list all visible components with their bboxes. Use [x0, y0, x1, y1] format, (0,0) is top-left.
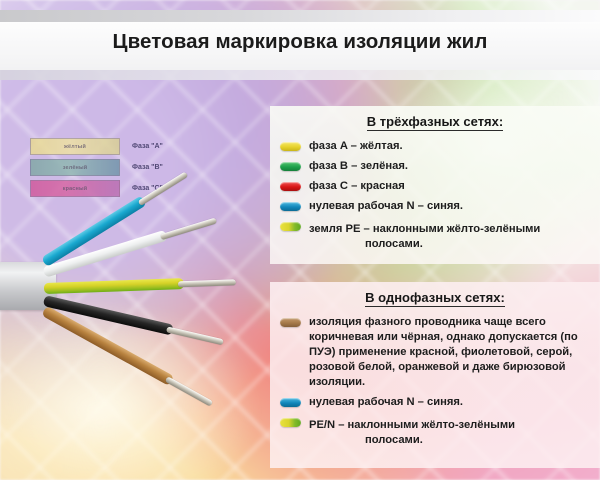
single-phase-item-pen: PE/N – наклонными жёлто-зелёными: [309, 419, 515, 431]
header-band-bottom: [0, 70, 600, 80]
list-item: фаза A – жёлтая.: [278, 139, 592, 154]
three-phase-item-a: фаза A – жёлтая.: [309, 139, 403, 154]
single-phase-item-neutral: нулевая рабочая N – синяя.: [309, 395, 463, 410]
black-wire-core: [166, 326, 224, 345]
list-item: изоляция фазного проводника чаще всего к…: [278, 315, 592, 390]
three-phase-heading: В трёхфазных сетях:: [367, 114, 503, 131]
list-item: нулевая рабочая N – синяя.: [278, 395, 592, 410]
list-item: фаза B – зелёная.: [278, 159, 592, 174]
single-phase-item-live: изоляция фазного проводника чаще всего к…: [309, 315, 592, 390]
legend-label-phase-b: Фаза "B": [132, 164, 163, 171]
legend-row: зелёный Фаза "B": [30, 159, 200, 176]
legend-swatch-green: зелёный: [30, 159, 120, 176]
three-phase-item-earth-continuation: полосами.: [309, 237, 540, 252]
bullet-yellow-icon: [280, 142, 301, 151]
white-wire-core: [160, 217, 217, 240]
single-phase-item-pen-continuation: полосами.: [309, 433, 515, 448]
legend-label-phase-a: Фаза "A": [132, 143, 163, 150]
legend-swatch-red: красный: [30, 180, 120, 197]
legend-row: жёлтый Фаза "A": [30, 138, 200, 155]
three-phase-item-earth: земля PE – наклонными жёлто-зелёными: [309, 223, 540, 235]
three-phase-item-neutral: нулевая рабочая N – синяя.: [309, 199, 463, 214]
yellow-green-wire-jacket: [44, 278, 184, 294]
header-band-top: [0, 10, 600, 22]
bullet-yellow-green-icon: [280, 418, 301, 427]
single-phase-heading: В однофазных сетях:: [365, 290, 505, 307]
three-phase-item-b: фаза B – зелёная.: [309, 159, 408, 174]
three-phase-item-c: фаза C – красная: [309, 179, 405, 194]
bullet-green-icon: [280, 162, 301, 171]
cable-illustration: [0, 205, 280, 405]
page-title: Цветовая маркировка изоляции жил: [0, 30, 600, 54]
list-item: нулевая рабочая N – синяя.: [278, 199, 592, 214]
list-item: фаза C – красная: [278, 179, 592, 194]
bullet-brown-icon: [280, 318, 301, 327]
bullet-red-icon: [280, 182, 301, 191]
list-item: PE/N – наклонными жёлто-зелёными полосам…: [278, 415, 592, 448]
bullet-blue-icon: [280, 398, 301, 407]
yellow-green-wire-core: [178, 279, 236, 287]
bullet-blue-icon: [280, 202, 301, 211]
three-phase-panel: В трёхфазных сетях: фаза A – жёлтая. фаз…: [270, 106, 600, 264]
list-item: земля PE – наклонными жёлто-зелёными пол…: [278, 219, 592, 252]
legend-swatch-yellow: жёлтый: [30, 138, 120, 155]
bullet-yellow-green-icon: [280, 222, 301, 231]
infographic-page: Цветовая маркировка изоляции жил жёлтый …: [0, 0, 600, 480]
brown-wire-core: [165, 376, 213, 406]
phase-color-legend: жёлтый Фаза "A" зелёный Фаза "B" красный…: [30, 138, 200, 201]
single-phase-panel: В однофазных сетях: изоляция фазного про…: [270, 282, 600, 468]
